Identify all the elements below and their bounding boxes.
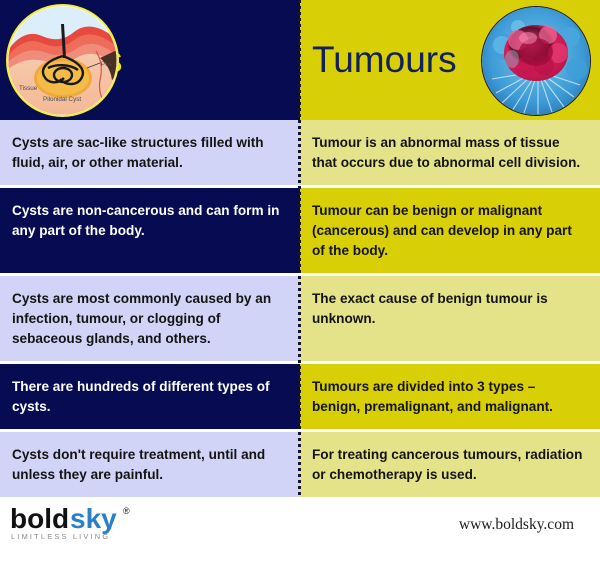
tumour-fact-1: Tumour is an abnormal mass of tissue tha… — [300, 120, 600, 185]
logo-text-bold: bold — [10, 503, 69, 534]
label-pus: Pus — [101, 61, 112, 68]
logo-text-sky: sky — [70, 503, 117, 534]
header-cell-cysts: Tissue Pus Pilonidal Cyst Cysts — [0, 0, 300, 120]
footer: bold sky ® LIMITLESS LIVING www.boldsky.… — [0, 500, 600, 551]
tumour-cell-illustration — [481, 6, 591, 116]
tumour-fact-3: The exact cause of benign tumour is unkn… — [300, 276, 600, 361]
header-title-tumours: Tumours — [312, 39, 457, 81]
infographic-container: Tissue Pus Pilonidal Cyst Cysts Tumours — [0, 0, 600, 564]
cyst-fact-5: Cysts don't require treatment, until and… — [0, 432, 300, 497]
header-cell-tumours: Tumours — [300, 0, 600, 120]
column-divider — [298, 120, 301, 497]
cyst-fact-4: There are hundreds of different types of… — [0, 364, 300, 429]
label-pilonidal-cyst: Pilonidal Cyst — [43, 96, 81, 103]
comparison-rows: Cysts are sac-like structures filled wit… — [0, 120, 600, 497]
cyst-fact-2: Cysts are non-cancerous and can form in … — [0, 188, 300, 273]
label-tissue: Tissue — [19, 85, 38, 92]
pilonidal-cyst-illustration: Tissue Pus Pilonidal Cyst — [6, 4, 119, 117]
boldsky-logo[interactable]: bold sky ® LIMITLESS LIVING — [10, 503, 152, 548]
tumour-fact-5: For treating cancerous tumours, radiatio… — [300, 432, 600, 497]
tumour-fact-2: Tumour can be benign or malignant (cance… — [300, 188, 600, 273]
cyst-fact-3: Cysts are most commonly caused by an inf… — [0, 276, 300, 361]
website-url[interactable]: www.boldsky.com — [459, 516, 574, 534]
logo-registered-mark: ® — [123, 506, 130, 516]
tumour-fact-4: Tumours are divided into 3 types – benig… — [300, 364, 600, 429]
column-divider-header — [298, 0, 301, 120]
logo-tagline: LIMITLESS LIVING — [11, 532, 110, 541]
cyst-fact-1: Cysts are sac-like structures filled wit… — [0, 120, 300, 185]
header-row: Tissue Pus Pilonidal Cyst Cysts Tumours — [0, 0, 600, 120]
